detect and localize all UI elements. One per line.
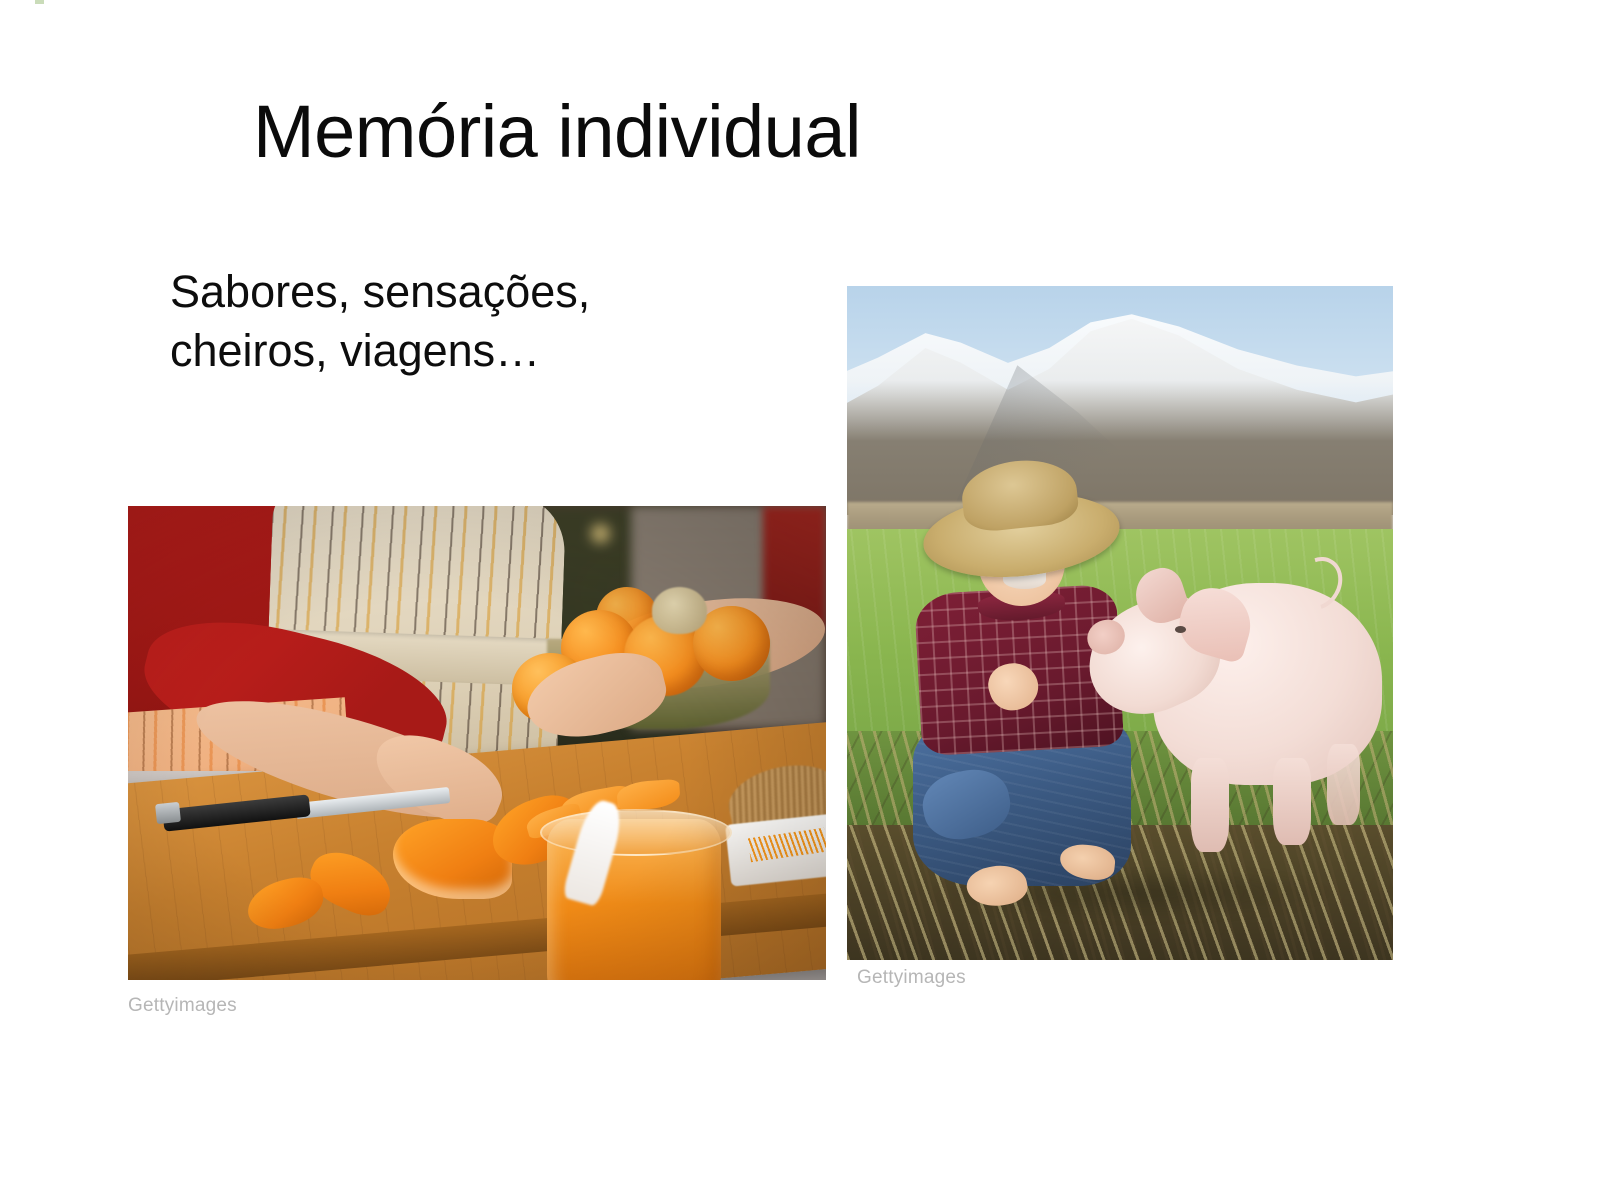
photo-oranges-caption: Gettyimages: [128, 995, 237, 1017]
top-edge-mark: [35, 0, 44, 4]
pinecone: [652, 587, 708, 634]
piglet-eye: [1175, 626, 1186, 633]
photo-boy-with-piglet: [847, 286, 1393, 960]
knife-bolster: [155, 802, 181, 824]
piglet-leg-2: [1273, 758, 1311, 846]
slide-body-text: Sabores, sensações, cheiros, viagens…: [170, 262, 730, 381]
piglet-leg-1: [1191, 758, 1229, 852]
jar-rim: [540, 809, 732, 856]
slide-canvas: Memória individual Sabores, sensações, c…: [0, 0, 1600, 1200]
photo-boy-pig-scene: [847, 286, 1393, 960]
piglet-leg-3: [1327, 744, 1360, 825]
photo-boy-pig-caption: Gettyimages: [857, 967, 966, 989]
photo-oranges-scene: [128, 506, 826, 980]
page-title: Memória individual: [253, 92, 861, 172]
photo-oranges-peeling: [128, 506, 826, 980]
